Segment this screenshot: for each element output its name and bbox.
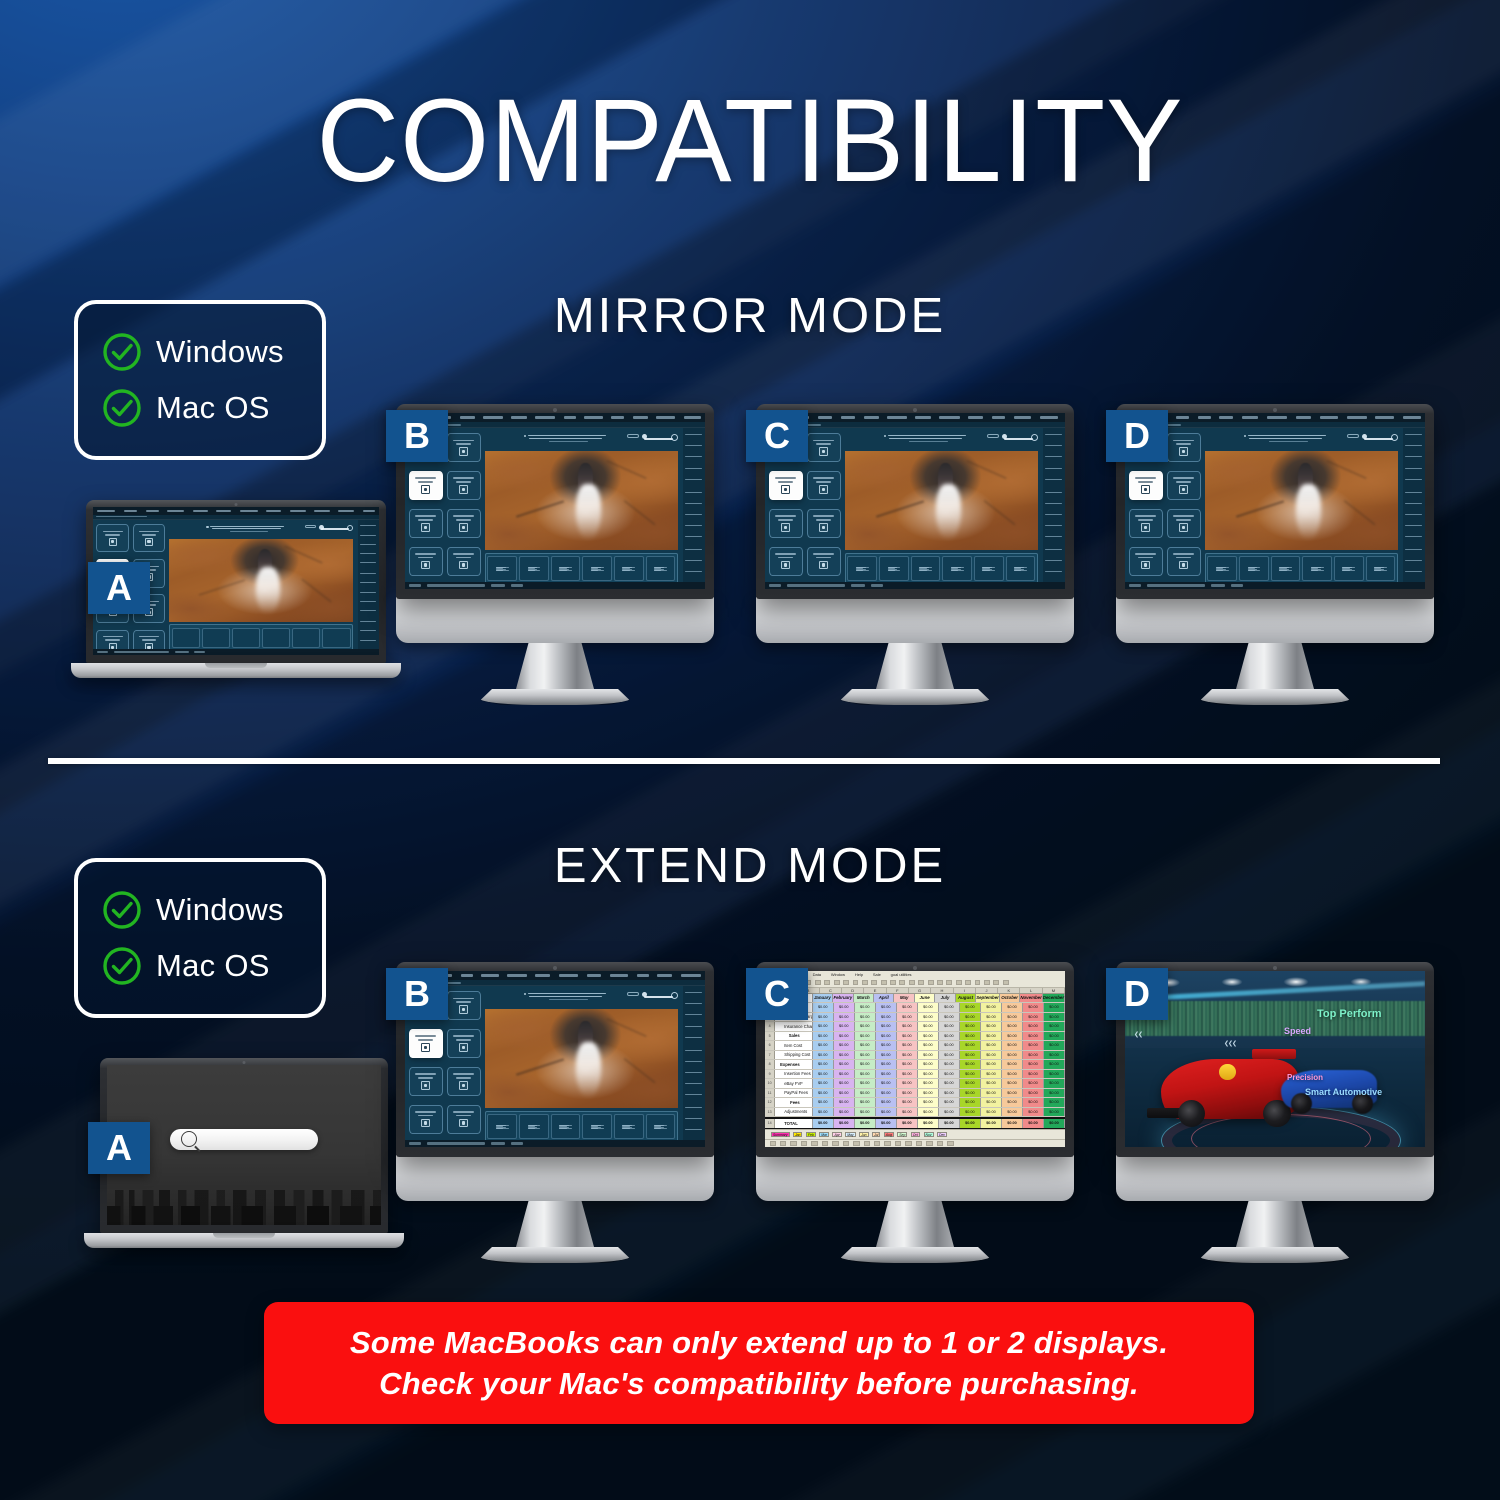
settings-knob-icon[interactable]: [671, 434, 678, 441]
table-cell[interactable]: $0.00: [897, 1022, 918, 1031]
zoom-slider[interactable]: [644, 438, 673, 440]
control-group[interactable]: [1271, 556, 1301, 581]
table-cell[interactable]: $0.00: [1023, 1089, 1044, 1098]
table-cell[interactable]: $0.00: [834, 1013, 855, 1022]
table-cell[interactable]: $0.00: [834, 1079, 855, 1088]
control-group[interactable]: [262, 628, 290, 648]
table-cell[interactable]: $0.00: [1044, 1119, 1065, 1128]
table-cell[interactable]: $0.00: [876, 1041, 897, 1050]
table-cell[interactable]: $0.00: [855, 1098, 876, 1107]
toolbar-button[interactable]: [815, 980, 821, 985]
control-group[interactable]: [1239, 556, 1269, 581]
menu-item[interactable]: [193, 510, 208, 513]
toolbar-button[interactable]: [909, 980, 915, 985]
table-cell[interactable]: $0.00: [981, 1013, 1002, 1022]
table-cell[interactable]: $0.00: [918, 1089, 939, 1098]
tool-card[interactable]: [409, 547, 443, 577]
table-cell[interactable]: $0.00: [897, 1003, 918, 1012]
table-cell[interactable]: $0.00: [981, 1051, 1002, 1060]
table-cell[interactable]: $0.00: [834, 1089, 855, 1098]
table-row[interactable]: 9Insertion Fees$0.00$0.00$0.00$0.00$0.00…: [765, 1070, 1065, 1080]
controls-panel[interactable]: [845, 553, 1039, 585]
table-cell[interactable]: $0.00: [813, 1098, 834, 1107]
control-group[interactable]: [582, 1114, 612, 1139]
table-cell[interactable]: $0.00: [897, 1098, 918, 1107]
control-group[interactable]: [202, 628, 230, 648]
table-cell[interactable]: $0.00: [981, 1079, 1002, 1088]
table-cell[interactable]: $0.00: [1023, 1003, 1044, 1012]
table-cell[interactable]: $0.00: [1044, 1051, 1065, 1060]
table-cell[interactable]: $0.00: [834, 1098, 855, 1107]
table-cell[interactable]: $0.00: [1002, 1032, 1023, 1041]
zoom-slider[interactable]: [1364, 438, 1393, 440]
table-cell[interactable]: $0.00: [876, 1060, 897, 1069]
table-cell[interactable]: $0.00: [1044, 1003, 1065, 1012]
toolbar-button[interactable]: [937, 980, 943, 985]
table-cell[interactable]: $0.00: [813, 1119, 834, 1128]
table-cell[interactable]: $0.00: [897, 1051, 918, 1060]
tool-card[interactable]: [1167, 509, 1201, 539]
toggle-switch[interactable]: [987, 434, 999, 437]
spreadsheet-menubar[interactable]: FormatToolsDataWindowHelpSalegoal utilit…: [765, 971, 1065, 979]
table-cell[interactable]: $0.00: [1023, 1079, 1044, 1088]
menu-item[interactable]: [124, 510, 138, 513]
menu-item[interactable]: [684, 416, 701, 419]
table-row[interactable]: 7Shipping Cost$0.00$0.00$0.00$0.00$0.00$…: [765, 1051, 1065, 1061]
table-cell[interactable]: $0.00: [918, 1051, 939, 1060]
table-cell[interactable]: $0.00: [813, 1041, 834, 1050]
tool-card[interactable]: [769, 547, 803, 577]
table-cell[interactable]: $0.00: [960, 1041, 981, 1050]
tool-card[interactable]: [447, 433, 481, 463]
table-cell[interactable]: $0.00: [813, 1003, 834, 1012]
toolbar-button[interactable]: [993, 980, 999, 985]
table-cell[interactable]: $0.00: [813, 1079, 834, 1088]
tool-card[interactable]: [409, 509, 443, 539]
menu-item[interactable]: [992, 416, 1005, 419]
table-cell[interactable]: $0.00: [960, 1070, 981, 1079]
table-cell[interactable]: $0.00: [1002, 1022, 1023, 1031]
draw-tool-button[interactable]: [905, 1141, 911, 1145]
menu-item[interactable]: [939, 416, 959, 419]
menu-item[interactable]: [584, 416, 602, 419]
table-cell[interactable]: $0.00: [939, 1022, 960, 1031]
menu-item[interactable]: [461, 974, 473, 977]
menu-item[interactable]: [1267, 416, 1287, 419]
menu-item[interactable]: [460, 416, 475, 419]
toolbar-button[interactable]: [975, 980, 981, 985]
properties-panel[interactable]: [1403, 428, 1426, 589]
column-header[interactable]: G: [909, 988, 931, 993]
table-cell[interactable]: $0.00: [897, 1013, 918, 1022]
table-cell[interactable]: $0.00: [876, 1051, 897, 1060]
toolbar-button[interactable]: [890, 980, 896, 985]
table-cell[interactable]: $0.00: [918, 1032, 939, 1041]
toolbar-button[interactable]: [899, 980, 905, 985]
menu-item[interactable]: goal utilities: [891, 972, 912, 977]
table-cell[interactable]: $0.00: [855, 1119, 876, 1128]
tool-card[interactable]: [1167, 433, 1201, 463]
table-cell[interactable]: $0.00: [981, 1070, 1002, 1079]
toggle-switch[interactable]: [627, 992, 639, 995]
menu-item[interactable]: [1296, 416, 1312, 419]
toolbar-button[interactable]: [928, 980, 934, 985]
table-cell[interactable]: $0.00: [897, 1041, 918, 1050]
app-menubar[interactable]: [93, 507, 379, 515]
table-cell[interactable]: $0.00: [1023, 1013, 1044, 1022]
control-group[interactable]: [614, 556, 644, 581]
menu-item[interactable]: [483, 416, 502, 419]
control-group[interactable]: [1207, 556, 1237, 581]
table-row[interactable]: 2Sold Price$0.00$0.00$0.00$0.00$0.00$0.0…: [765, 1003, 1065, 1013]
sheet-tab[interactable]: Feb: [806, 1132, 816, 1137]
draw-tool-button[interactable]: [801, 1141, 807, 1145]
menu-item[interactable]: [535, 416, 555, 419]
table-cell[interactable]: $0.00: [813, 1089, 834, 1098]
menu-item[interactable]: [633, 416, 647, 419]
draw-tool-button[interactable]: [770, 1141, 776, 1145]
menu-item[interactable]: [559, 974, 578, 977]
sheet-tab[interactable]: Jul: [872, 1132, 880, 1137]
table-cell[interactable]: $0.00: [939, 1079, 960, 1088]
table-cell[interactable]: $0.00: [939, 1003, 960, 1012]
table-cell[interactable]: $0.00: [981, 1089, 1002, 1098]
tool-card[interactable]: [133, 524, 166, 552]
table-cell[interactable]: $0.00: [855, 1060, 876, 1069]
control-group[interactable]: [847, 556, 877, 581]
control-group[interactable]: [487, 556, 517, 581]
control-group[interactable]: [1006, 556, 1036, 581]
control-group[interactable]: [646, 1114, 676, 1139]
column-header[interactable]: D: [842, 988, 864, 993]
controls-panel[interactable]: [1205, 553, 1399, 585]
app-menubar[interactable]: [765, 413, 1065, 422]
table-cell[interactable]: $0.00: [960, 1060, 981, 1069]
table-row[interactable]: 4Insurance Charge$0.00$0.00$0.00$0.00$0.…: [765, 1022, 1065, 1032]
tool-card[interactable]: [769, 509, 803, 539]
draw-tool-button[interactable]: [832, 1141, 838, 1145]
table-cell[interactable]: $0.00: [1044, 1079, 1065, 1088]
tool-card[interactable]: [447, 1105, 481, 1135]
preview-canvas[interactable]: [485, 451, 679, 551]
table-cell[interactable]: $0.00: [855, 1003, 876, 1012]
table-cell[interactable]: $0.00: [1023, 1032, 1044, 1041]
draw-tool-button[interactable]: [947, 1141, 953, 1145]
zoom-slider[interactable]: [1004, 438, 1033, 440]
control-group[interactable]: [646, 556, 676, 581]
table-cell[interactable]: $0.00: [813, 1051, 834, 1060]
table-cell[interactable]: $0.00: [939, 1098, 960, 1107]
table-cell[interactable]: $0.00: [1002, 1041, 1023, 1050]
control-group[interactable]: [942, 556, 972, 581]
table-cell[interactable]: $0.00: [876, 1079, 897, 1088]
tool-card[interactable]: [96, 524, 129, 552]
controls-panel[interactable]: [485, 553, 679, 585]
table-cell[interactable]: $0.00: [876, 1098, 897, 1107]
app-menubar[interactable]: [1125, 413, 1425, 422]
menu-item[interactable]: [915, 416, 930, 419]
control-group[interactable]: [974, 556, 1004, 581]
table-cell[interactable]: $0.00: [960, 1032, 981, 1041]
table-cell[interactable]: $0.00: [1044, 1022, 1065, 1031]
table-cell[interactable]: $0.00: [918, 1003, 939, 1012]
toolbar-button[interactable]: [871, 980, 877, 985]
sheet-tab[interactable]: Jan: [793, 1132, 802, 1137]
table-cell[interactable]: $0.00: [960, 1022, 981, 1031]
menu-item[interactable]: [511, 416, 526, 419]
menu-item[interactable]: [656, 416, 675, 419]
table-cell[interactable]: $0.00: [939, 1060, 960, 1069]
table-cell[interactable]: $0.00: [876, 1032, 897, 1041]
table-cell[interactable]: $0.00: [1023, 1041, 1044, 1050]
table-cell[interactable]: $0.00: [939, 1089, 960, 1098]
table-cell[interactable]: $0.00: [1044, 1041, 1065, 1050]
table-row[interactable]: 8Expenses$0.00$0.00$0.00$0.00$0.00$0.00$…: [765, 1060, 1065, 1070]
column-header[interactable]: E: [864, 988, 886, 993]
control-group[interactable]: [551, 1114, 581, 1139]
table-cell[interactable]: $0.00: [918, 1079, 939, 1088]
preview-canvas[interactable]: [169, 539, 354, 622]
control-group[interactable]: [1366, 556, 1396, 581]
table-cell[interactable]: $0.00: [918, 1060, 939, 1069]
toolbar-button[interactable]: [843, 980, 849, 985]
table-cell[interactable]: $0.00: [1023, 1060, 1044, 1069]
table-cell[interactable]: $0.00: [813, 1013, 834, 1022]
toolbar-button[interactable]: [1003, 980, 1009, 985]
tool-card[interactable]: [807, 509, 841, 539]
table-cell[interactable]: $0.00: [897, 1079, 918, 1088]
table-cell[interactable]: $0.00: [981, 1022, 1002, 1031]
menu-item[interactable]: Window: [831, 972, 845, 977]
menu-item[interactable]: [587, 974, 602, 977]
draw-tool-button[interactable]: [853, 1141, 859, 1145]
zoom-slider[interactable]: [321, 528, 349, 530]
table-cell[interactable]: $0.00: [855, 1070, 876, 1079]
table-cell[interactable]: $0.00: [834, 1060, 855, 1069]
menu-item[interactable]: [1198, 416, 1211, 419]
app-menubar[interactable]: [405, 971, 705, 980]
table-cell[interactable]: $0.00: [1023, 1108, 1044, 1117]
control-group[interactable]: [551, 556, 581, 581]
draw-tool-button[interactable]: [780, 1141, 786, 1145]
table-cell[interactable]: $0.00: [855, 1032, 876, 1041]
table-cell[interactable]: $0.00: [1002, 1119, 1023, 1128]
menu-item[interactable]: [1040, 416, 1058, 419]
table-cell[interactable]: $0.00: [1002, 1070, 1023, 1079]
menu-item[interactable]: [1347, 416, 1367, 419]
table-row[interactable]: 5Sales$0.00$0.00$0.00$0.00$0.00$0.00$0.0…: [765, 1032, 1065, 1042]
table-cell[interactable]: $0.00: [834, 1041, 855, 1050]
properties-panel[interactable]: [683, 986, 706, 1147]
table-cell[interactable]: $0.00: [918, 1041, 939, 1050]
properties-panel[interactable]: [683, 428, 706, 589]
control-group[interactable]: [292, 628, 320, 648]
table-cell[interactable]: $0.00: [1002, 1098, 1023, 1107]
menu-item[interactable]: [681, 974, 701, 977]
table-cell[interactable]: $0.00: [897, 1119, 918, 1128]
table-cell[interactable]: $0.00: [1044, 1013, 1065, 1022]
draw-tool-button[interactable]: [916, 1141, 922, 1145]
tool-card[interactable]: [1167, 547, 1201, 577]
table-cell[interactable]: $0.00: [834, 1051, 855, 1060]
menu-item[interactable]: [481, 974, 498, 977]
control-group[interactable]: [1334, 556, 1364, 581]
tool-card[interactable]: [447, 471, 481, 501]
table-cell[interactable]: $0.00: [1002, 1079, 1023, 1088]
properties-panel[interactable]: [358, 520, 379, 655]
table-cell[interactable]: $0.00: [834, 1070, 855, 1079]
menu-item[interactable]: [887, 416, 906, 419]
table-cell[interactable]: $0.00: [918, 1098, 939, 1107]
table-cell[interactable]: $0.00: [897, 1089, 918, 1098]
menu-item[interactable]: [1014, 416, 1031, 419]
table-cell[interactable]: $0.00: [939, 1070, 960, 1079]
sheet-tab[interactable]: Jun: [859, 1132, 868, 1137]
menu-item[interactable]: [97, 510, 115, 513]
menu-item[interactable]: [167, 510, 184, 513]
tool-card[interactable]: [447, 991, 481, 1021]
draw-tool-button[interactable]: [811, 1141, 817, 1145]
table-cell[interactable]: $0.00: [834, 1022, 855, 1031]
table-cell[interactable]: $0.00: [897, 1108, 918, 1117]
table-cell[interactable]: $0.00: [981, 1032, 1002, 1041]
table-cell[interactable]: $0.00: [1002, 1003, 1023, 1012]
table-cell[interactable]: $0.00: [855, 1089, 876, 1098]
table-cell[interactable]: $0.00: [834, 1108, 855, 1117]
column-header[interactable]: K: [998, 988, 1020, 993]
table-cell[interactable]: $0.00: [981, 1119, 1002, 1128]
menu-item[interactable]: [637, 974, 649, 977]
table-cell[interactable]: $0.00: [876, 1022, 897, 1031]
tool-card[interactable]: [447, 547, 481, 577]
menu-item[interactable]: [535, 974, 550, 977]
column-header[interactable]: C: [820, 988, 842, 993]
menu-item[interactable]: [507, 974, 526, 977]
control-group[interactable]: [322, 628, 350, 648]
table-cell[interactable]: $0.00: [813, 1070, 834, 1079]
table-cell[interactable]: $0.00: [813, 1060, 834, 1069]
table-cell[interactable]: $0.00: [855, 1079, 876, 1088]
table-cell[interactable]: $0.00: [813, 1108, 834, 1117]
table-cell[interactable]: $0.00: [1023, 1051, 1044, 1060]
table-cell[interactable]: $0.00: [1044, 1060, 1065, 1069]
table-cell[interactable]: $0.00: [960, 1079, 981, 1088]
draw-tool-button[interactable]: [926, 1141, 932, 1145]
sheet-tab[interactable]: Oct: [911, 1132, 920, 1137]
column-header[interactable]: H: [931, 988, 953, 993]
preview-canvas[interactable]: [1205, 451, 1399, 551]
column-header[interactable]: L: [1020, 988, 1042, 993]
table-cell[interactable]: $0.00: [981, 1108, 1002, 1117]
sheet-tab[interactable]: Sep: [897, 1132, 907, 1137]
settings-knob-icon[interactable]: [671, 992, 678, 999]
settings-knob-icon[interactable]: [347, 525, 354, 532]
toggle-switch[interactable]: [1347, 434, 1359, 437]
draw-tool-button[interactable]: [874, 1141, 880, 1145]
table-cell[interactable]: $0.00: [960, 1051, 981, 1060]
table-cell[interactable]: $0.00: [897, 1070, 918, 1079]
settings-knob-icon[interactable]: [1391, 434, 1398, 441]
sheet-tabs[interactable]: SummaryJanFebMarAprMayJunJulAugSepOctNov…: [765, 1129, 1065, 1139]
toolbar-button[interactable]: [946, 980, 952, 985]
tool-card[interactable]: [447, 1067, 481, 1097]
table-cell[interactable]: $0.00: [960, 1013, 981, 1022]
tool-card[interactable]: [807, 471, 841, 501]
menu-item[interactable]: [1242, 416, 1259, 419]
draw-tool-button[interactable]: [937, 1141, 943, 1145]
table-cell[interactable]: $0.00: [1044, 1070, 1065, 1079]
tool-card[interactable]: [769, 471, 803, 501]
toolbar-button[interactable]: [824, 980, 830, 985]
table-row[interactable]: 6Item Cost$0.00$0.00$0.00$0.00$0.00$0.00…: [765, 1041, 1065, 1051]
control-group[interactable]: [1302, 556, 1332, 581]
menu-item[interactable]: [611, 416, 624, 419]
spreadsheet-grid[interactable]: 1JanuaryFebruaryMarchAprilMayJuneJulyAug…: [765, 994, 1065, 1130]
sheet-tab[interactable]: Apr: [832, 1132, 841, 1137]
preview-canvas[interactable]: [485, 1009, 679, 1109]
draw-tool-button[interactable]: [895, 1141, 901, 1145]
tool-card[interactable]: [807, 433, 841, 463]
column-header[interactable]: M: [1043, 988, 1065, 993]
drawing-toolbar[interactable]: [765, 1139, 1065, 1147]
menu-item[interactable]: [818, 416, 832, 419]
table-row[interactable]: 3Shipping Charge$0.00$0.00$0.00$0.00$0.0…: [765, 1013, 1065, 1023]
table-cell[interactable]: $0.00: [918, 1022, 939, 1031]
table-cell[interactable]: $0.00: [876, 1013, 897, 1022]
table-row[interactable]: 13Adjustments$0.00$0.00$0.00$0.00$0.00$0…: [765, 1108, 1065, 1118]
table-cell[interactable]: $0.00: [855, 1022, 876, 1031]
table-cell[interactable]: $0.00: [960, 1119, 981, 1128]
tool-card[interactable]: [409, 1067, 443, 1097]
control-group[interactable]: [172, 628, 200, 648]
table-cell[interactable]: $0.00: [918, 1013, 939, 1022]
menu-item[interactable]: Data: [813, 972, 821, 977]
sheet-tab[interactable]: Aug: [884, 1132, 894, 1137]
table-cell[interactable]: $0.00: [813, 1032, 834, 1041]
menu-item[interactable]: [314, 510, 330, 513]
table-cell[interactable]: $0.00: [981, 1098, 1002, 1107]
toolbar-button[interactable]: [862, 980, 868, 985]
table-cell[interactable]: $0.00: [939, 1119, 960, 1128]
sheet-tab[interactable]: Dec: [937, 1132, 947, 1137]
table-cell[interactable]: $0.00: [1044, 1108, 1065, 1117]
control-group[interactable]: [879, 556, 909, 581]
menu-item[interactable]: [1176, 416, 1190, 419]
control-group[interactable]: [232, 628, 260, 648]
toolbar-button[interactable]: [984, 980, 990, 985]
menu-item[interactable]: [864, 416, 879, 419]
app-menubar[interactable]: [405, 413, 705, 422]
menu-item[interactable]: [363, 510, 375, 513]
table-cell[interactable]: $0.00: [855, 1108, 876, 1117]
toolbar-button[interactable]: [834, 980, 840, 985]
table-cell[interactable]: $0.00: [876, 1108, 897, 1117]
spreadsheet-toolbar[interactable]: [765, 979, 1065, 988]
tool-card[interactable]: [1129, 547, 1163, 577]
table-cell[interactable]: $0.00: [960, 1098, 981, 1107]
toolbar-button[interactable]: [965, 980, 971, 985]
table-cell[interactable]: $0.00: [897, 1032, 918, 1041]
column-header[interactable]: J: [976, 988, 998, 993]
table-cell[interactable]: $0.00: [855, 1013, 876, 1022]
table-cell[interactable]: $0.00: [855, 1051, 876, 1060]
table-cell[interactable]: $0.00: [876, 1003, 897, 1012]
tool-card[interactable]: [1167, 471, 1201, 501]
draw-tool-button[interactable]: [884, 1141, 890, 1145]
toolbar-button[interactable]: [853, 980, 859, 985]
menu-item[interactable]: [564, 416, 576, 419]
menu-item[interactable]: [216, 510, 231, 513]
